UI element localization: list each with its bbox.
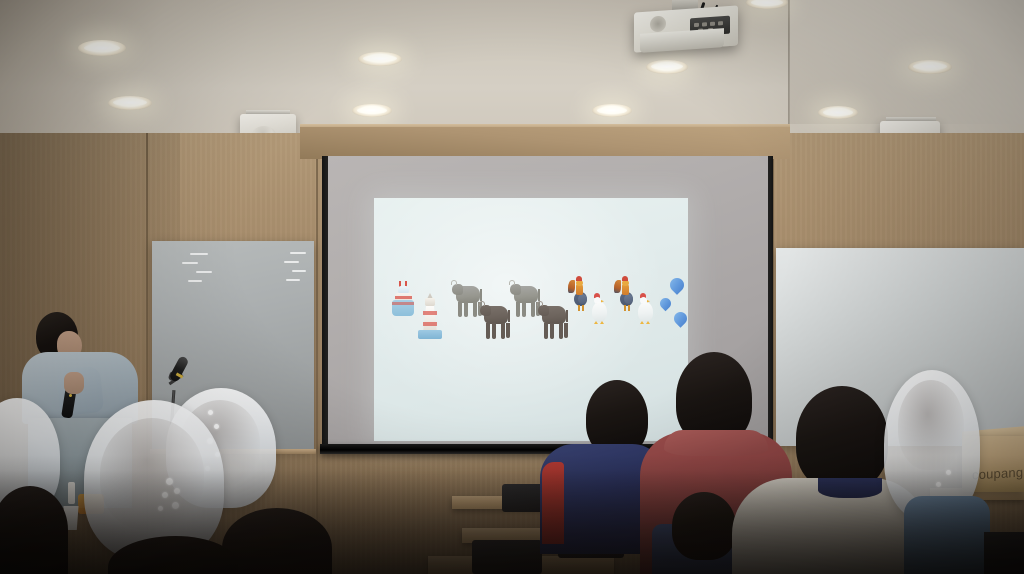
veil-flower-icon bbox=[214, 424, 219, 429]
emoji-birthday-cake-icon bbox=[392, 280, 416, 320]
emoji-droplet-2-icon bbox=[658, 296, 674, 312]
lecture-hall-photo: coupang bbox=[0, 0, 1024, 574]
ceiling-downlight-6 bbox=[646, 60, 688, 74]
veil-flower-icon bbox=[208, 410, 213, 415]
screen-valance bbox=[300, 127, 790, 159]
ceiling-downlight-8 bbox=[908, 60, 952, 74]
emoji-chicken-2-icon bbox=[636, 294, 658, 338]
emoji-chicken-1-icon bbox=[590, 294, 612, 338]
emoji-lighthouse-icon bbox=[418, 284, 444, 340]
emoji-row bbox=[382, 280, 682, 360]
ceiling-downlight-2 bbox=[108, 96, 152, 110]
ceiling-downlight-1 bbox=[78, 40, 126, 56]
lower-wall-shadow bbox=[0, 455, 1024, 574]
ceiling-downlight-4 bbox=[352, 104, 392, 117]
ceiling-step bbox=[790, 0, 1024, 124]
ceiling-downlight-9 bbox=[818, 106, 858, 119]
ceiling-downlight-5 bbox=[592, 104, 632, 117]
attendee-maroon-polo-collar bbox=[664, 430, 768, 456]
ceiling-downlight-3 bbox=[358, 52, 402, 66]
presenter-hand bbox=[64, 372, 84, 394]
